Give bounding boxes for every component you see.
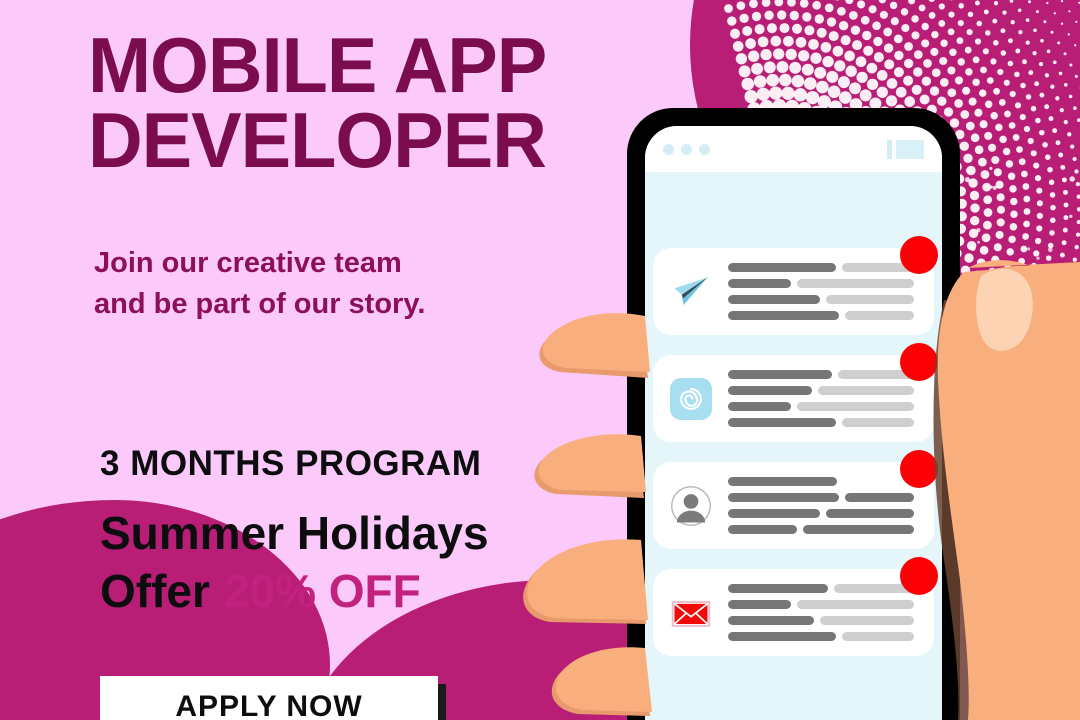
notification-list [645,248,942,676]
placeholder-segment [728,616,814,625]
spiral-icon [674,382,708,416]
placeholder-line [728,311,920,320]
placeholder-segment [842,632,915,641]
notification-icon-slot [667,589,715,637]
status-dot-icon [699,144,710,155]
offer-line-1: Summer Holidays [100,505,570,563]
placeholder-text-lines [728,584,920,641]
subheadline-line-1: Join our creative team [94,243,564,284]
status-bar [645,126,942,172]
battery-icon [896,140,924,159]
status-bar-right [887,140,924,159]
phone-screen [645,126,942,720]
signal-bar-icon [887,140,892,159]
placeholder-segment [728,279,791,288]
headline-line-1: MOBILE APP [88,28,631,103]
icon-tile [670,378,712,420]
placeholder-segment [797,402,914,411]
headline-line-2: DEVELOPER [88,103,631,178]
subheadline-line-2: and be part of our story. [94,284,564,325]
placeholder-line [728,632,920,641]
placeholder-line [728,509,920,518]
placeholder-line [728,418,920,427]
unread-badge [900,343,938,381]
placeholder-line [728,616,920,625]
subheadline: Join our creative team and be part of ou… [94,243,564,325]
placeholder-segment [797,600,914,609]
placeholder-segment [728,493,839,502]
placeholder-segment [728,370,832,379]
placeholder-line [728,386,920,395]
placeholder-segment [728,509,820,518]
placeholder-line [728,600,920,609]
placeholder-segment [728,295,820,304]
offer-line-2: Offer20% OFF [100,563,570,621]
notification-card[interactable] [653,248,934,335]
apply-now-button[interactable]: APPLY NOW [100,676,438,720]
placeholder-line [728,370,920,379]
status-dot-icon [663,144,674,155]
placeholder-line [728,477,920,486]
placeholder-segment [803,525,914,534]
placeholder-segment [728,477,837,486]
placeholder-line [728,279,920,288]
placeholder-line [728,493,920,502]
page-title: MOBILE APP DEVELOPER [88,28,631,178]
unread-badge [900,450,938,488]
unread-badge [900,236,938,274]
notification-icon-slot [667,268,715,316]
placeholder-text-lines [728,263,920,320]
notification-card[interactable] [653,569,934,656]
placeholder-text-lines [728,477,920,534]
notification-icon-slot [667,482,715,530]
unread-badge [900,557,938,595]
phone-mockup [627,108,960,720]
notification-card[interactable] [653,462,934,549]
placeholder-line [728,263,920,272]
placeholder-segment [728,584,828,593]
placeholder-line [728,402,920,411]
apply-now-label: APPLY NOW [175,690,362,720]
placeholder-segment [845,311,914,320]
placeholder-segment [842,418,915,427]
notification-icon-slot [667,375,715,423]
placeholder-segment [728,525,797,534]
placeholder-segment [728,600,791,609]
envelope-icon [669,591,713,635]
placeholder-segment [818,386,914,395]
placeholder-text-lines [728,370,920,427]
placeholder-segment [728,386,812,395]
placeholder-segment [826,509,914,518]
paper-plane-icon [669,270,713,314]
notification-card[interactable] [653,355,934,442]
placeholder-segment [728,402,791,411]
placeholder-segment [820,616,914,625]
status-bar-dots [663,144,710,155]
placeholder-line [728,295,920,304]
placeholder-segment [728,418,836,427]
placeholder-segment [728,263,836,272]
status-dot-icon [681,144,692,155]
placeholder-segment [728,311,839,320]
discount-badge: 20% OFF [224,565,421,617]
program-duration-label: 3 MONTHS PROGRAM [100,444,481,484]
placeholder-segment [728,632,836,641]
placeholder-line [728,584,920,593]
placeholder-segment [797,279,914,288]
placeholder-segment [845,493,914,502]
avatar-icon [669,484,713,528]
offer-word: Offer [100,565,210,617]
placeholder-line [728,525,920,534]
placeholder-segment [826,295,914,304]
offer-block: Summer Holidays Offer20% OFF [100,505,570,620]
poster-canvas: MOBILE APP DEVELOPER Join our creative t… [0,0,1080,720]
